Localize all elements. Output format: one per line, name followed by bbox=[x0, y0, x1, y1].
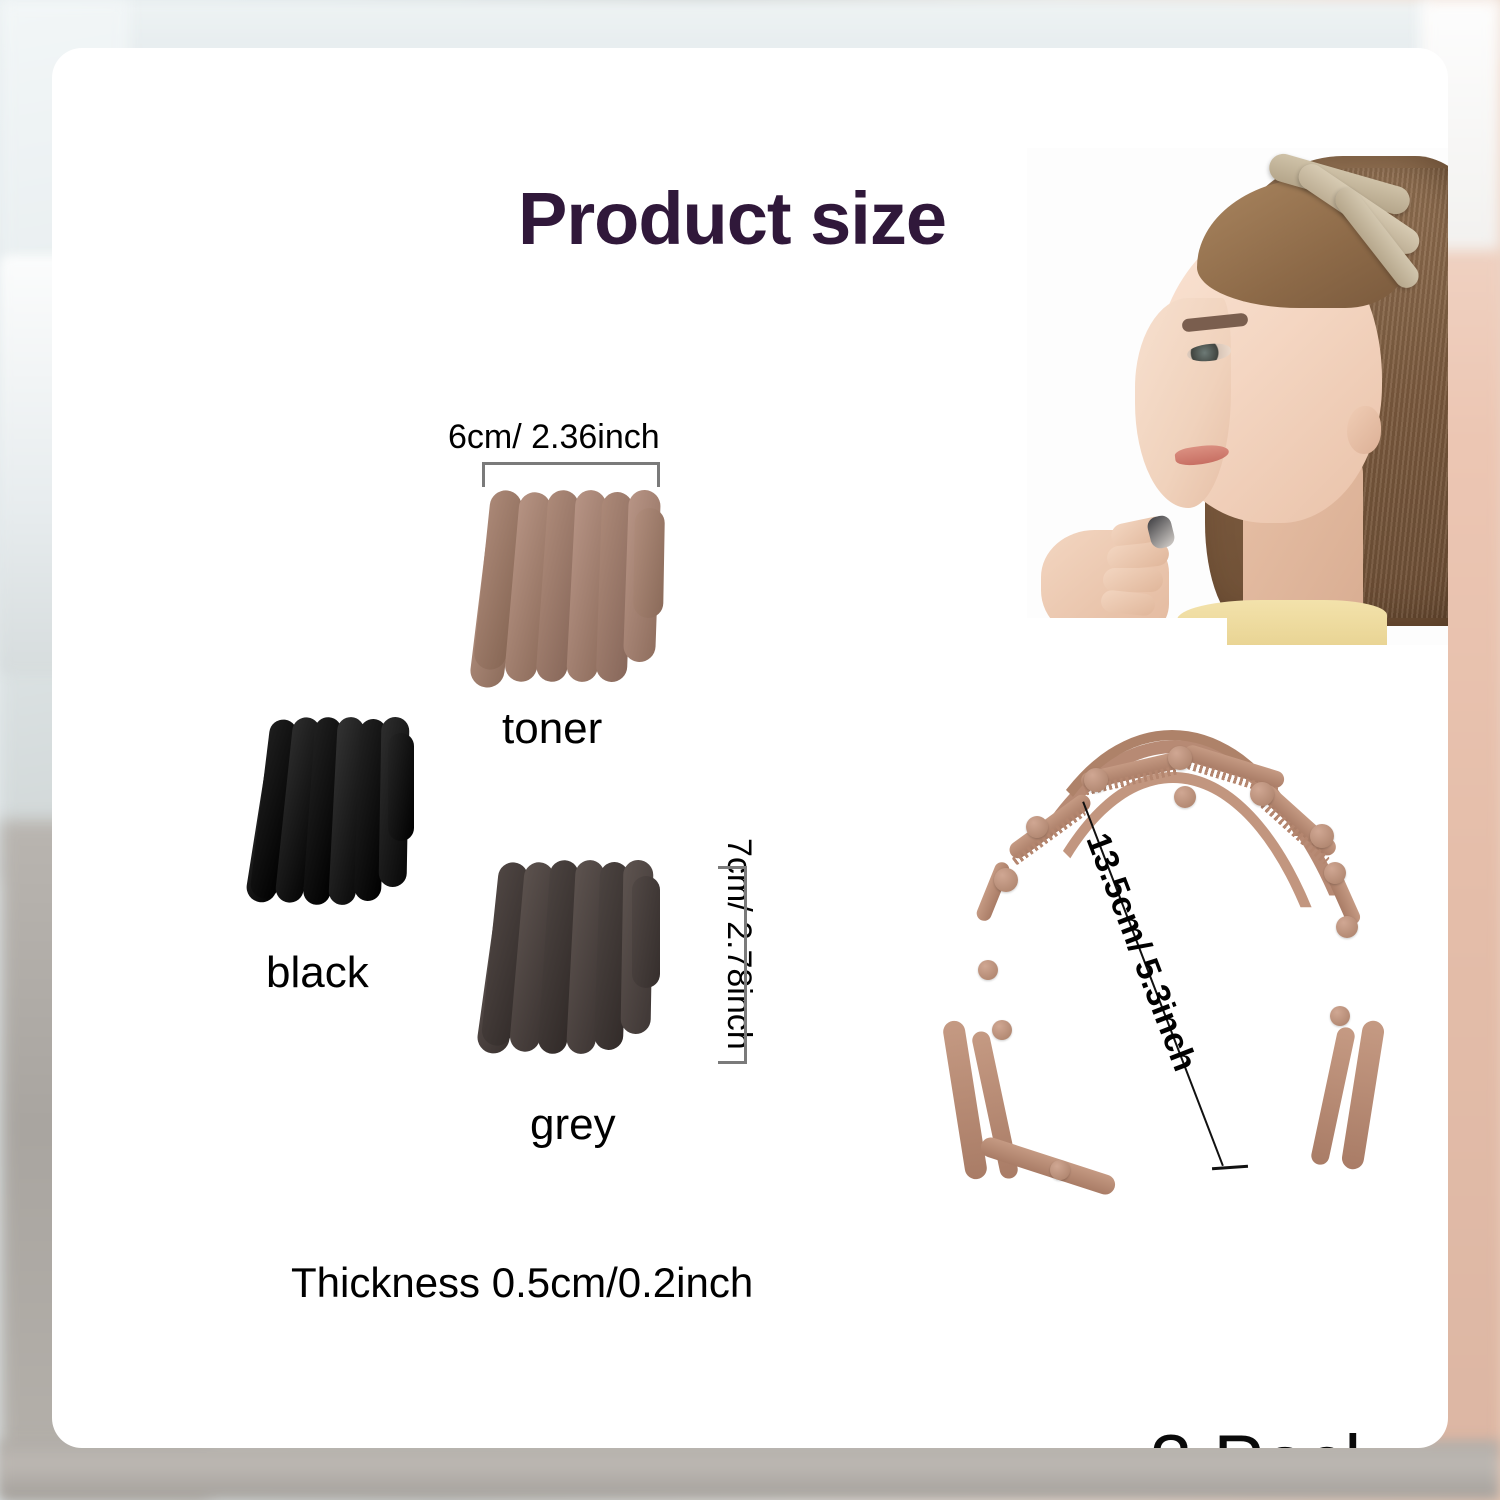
color-label-black: black bbox=[266, 948, 369, 998]
thickness-label: Thickness 0.5cm/0.2inch bbox=[291, 1259, 753, 1307]
model-ear bbox=[1347, 406, 1381, 454]
height-dimension-bracket bbox=[718, 866, 747, 1064]
model-photo bbox=[1027, 148, 1448, 645]
page-title: Product size bbox=[518, 176, 946, 261]
coil-swatch-black bbox=[256, 713, 416, 913]
coil-swatch-grey bbox=[486, 858, 666, 1062]
headband-node-11 bbox=[992, 1020, 1012, 1040]
headband-node-6 bbox=[1250, 782, 1274, 806]
headband-node-8 bbox=[1324, 862, 1346, 884]
pack-quantity-label: 3 Pack bbox=[1150, 1419, 1382, 1448]
color-label-grey: grey bbox=[530, 1100, 616, 1150]
model-photo-mask bbox=[1027, 618, 1227, 645]
headband-node-5 bbox=[1174, 786, 1196, 808]
headband-node-9 bbox=[1336, 916, 1358, 938]
headband-node-2 bbox=[1026, 816, 1048, 838]
coil-swatch-toner bbox=[476, 486, 666, 694]
color-label-toner: toner bbox=[502, 704, 602, 754]
headband-node-4 bbox=[1168, 746, 1192, 770]
width-dimension-label: 6cm/ 2.36inch bbox=[448, 418, 660, 457]
headband-node-1 bbox=[994, 868, 1018, 892]
product-info-card: Product size 6cm/ 2.36inch 7cm/ 2.78inch bbox=[52, 48, 1448, 1448]
headband-node-10 bbox=[978, 960, 998, 980]
model-finger-3 bbox=[1103, 568, 1163, 592]
width-dimension-bracket bbox=[482, 462, 660, 487]
background-bottom-strip bbox=[0, 1440, 1500, 1500]
headband-node-3 bbox=[1084, 768, 1108, 792]
headband-node-13 bbox=[1050, 1160, 1070, 1180]
headband-node-7 bbox=[1310, 824, 1334, 848]
headband-node-12 bbox=[1330, 1006, 1350, 1026]
